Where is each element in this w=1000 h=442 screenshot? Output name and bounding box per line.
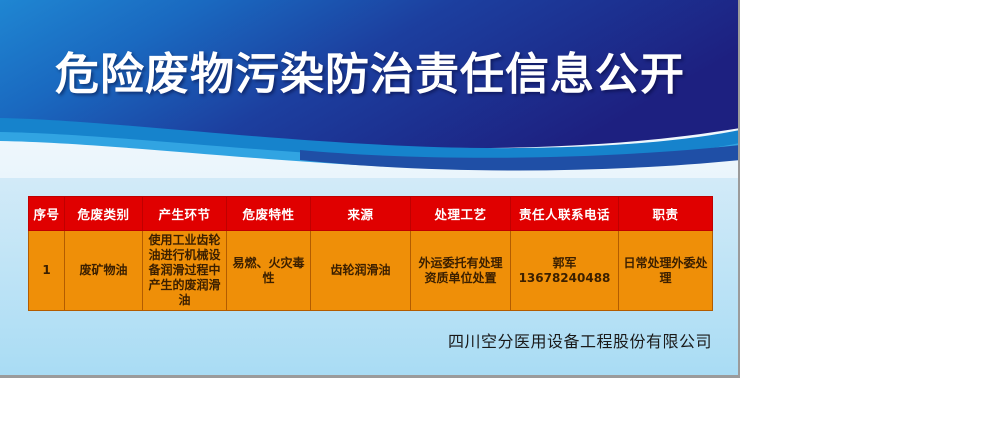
cell-responsible-contact: 郭军 13678240488	[511, 231, 619, 311]
column-header-duty: 职责	[619, 197, 713, 231]
column-header-index: 序号	[29, 197, 65, 231]
company-name: 四川空分医用设备工程股份有限公司	[0, 328, 712, 352]
information-disclosure-poster: 危险废物污染防治责任信息公开 序号 危废类别 产生环节 危废特性 来源 处理工艺…	[0, 0, 740, 378]
banner-header: 危险废物污染防治责任信息公开	[0, 0, 740, 178]
cell-index: 1	[29, 231, 65, 311]
cell-category: 废矿物油	[65, 231, 143, 311]
responsible-person-phone: 13678240488	[519, 271, 611, 285]
responsible-person-name: 郭军	[552, 256, 576, 270]
cell-generation-stage: 使用工业齿轮油进行机械设备润滑过程中产生的废润滑油	[143, 231, 227, 311]
cell-source: 齿轮润滑油	[311, 231, 411, 311]
column-header-treatment: 处理工艺	[411, 197, 511, 231]
column-header-contact: 责任人联系电话	[511, 197, 619, 231]
cell-duty: 日常处理外委处理	[619, 231, 713, 311]
column-header-source: 来源	[311, 197, 411, 231]
cell-treatment: 外运委托有处理资质单位处置	[411, 231, 511, 311]
column-header-stage: 产生环节	[143, 197, 227, 231]
column-header-category: 危废类别	[65, 197, 143, 231]
hazardous-waste-table-container: 序号 危废类别 产生环节 危废特性 来源 处理工艺 责任人联系电话 职责 1 废…	[28, 196, 712, 311]
page-title: 危险废物污染防治责任信息公开	[0, 48, 740, 102]
table-row: 1 废矿物油 使用工业齿轮油进行机械设备润滑过程中产生的废润滑油 易燃、火灾毒性…	[29, 231, 713, 311]
column-header-characteristics: 危废特性	[227, 197, 311, 231]
hazardous-waste-table: 序号 危废类别 产生环节 危废特性 来源 处理工艺 责任人联系电话 职责 1 废…	[28, 196, 713, 311]
table-header-row: 序号 危废类别 产生环节 危废特性 来源 处理工艺 责任人联系电话 职责	[29, 197, 713, 231]
cell-characteristics: 易燃、火灾毒性	[227, 231, 311, 311]
